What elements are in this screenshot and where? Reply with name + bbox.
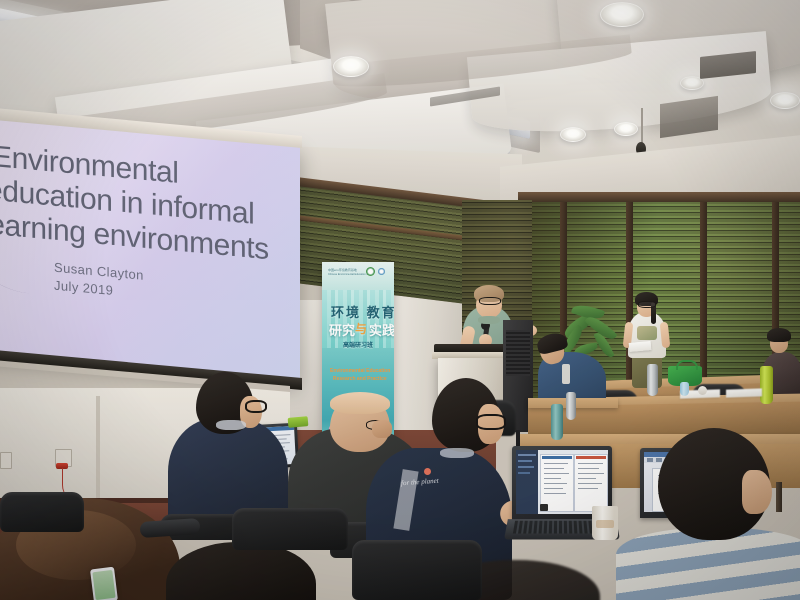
projection-screen: Environmental education in informal lear… bbox=[0, 113, 300, 384]
recessed-downlight-4 bbox=[614, 122, 638, 136]
wall-seam bbox=[96, 396, 100, 506]
banner-tagline: 高端研习班 bbox=[343, 340, 373, 349]
banner-org-cn: 中国env环境教育基地 bbox=[328, 268, 357, 272]
laptop-center-pane-right bbox=[574, 454, 608, 512]
small-white-cup bbox=[698, 386, 707, 395]
banner-headline-cn: 环境 教育 bbox=[331, 302, 394, 321]
banner-subhead-left: 研究 bbox=[329, 320, 355, 339]
standing-woman-shirt-graphic bbox=[637, 326, 657, 340]
laptop-center-screen bbox=[516, 450, 608, 514]
recessed-downlight-3 bbox=[560, 127, 586, 142]
banner-logo-2 bbox=[378, 268, 385, 275]
yellow-green-bottle bbox=[760, 366, 773, 404]
silver-thermos-1 bbox=[647, 364, 658, 396]
recessed-downlight-1 bbox=[333, 56, 369, 77]
pendant-cable bbox=[641, 108, 643, 146]
attendee-far-right-hair bbox=[767, 328, 791, 342]
banner-subhead-right: 实践 bbox=[369, 320, 394, 339]
audience-striped-neck bbox=[742, 470, 772, 514]
table-leg-2 bbox=[776, 482, 782, 512]
banner-headline-en-2: Research and Practice bbox=[333, 376, 387, 382]
pa-speaker-grille bbox=[506, 330, 530, 376]
blind-headrail-right bbox=[518, 192, 800, 202]
smartphone[interactable] bbox=[90, 567, 118, 600]
paper-on-table-2 bbox=[726, 388, 762, 397]
audience-bald-ear bbox=[372, 420, 392, 438]
banner-logo-1 bbox=[366, 267, 375, 276]
green-object-on-laptop bbox=[288, 416, 309, 428]
speaker-glasses bbox=[479, 297, 501, 305]
tshirt-print-dot bbox=[424, 468, 431, 475]
audience-planet-glasses bbox=[476, 414, 506, 430]
wall-outlet-secondary bbox=[0, 452, 12, 469]
silver-thermos-2 bbox=[566, 392, 576, 420]
audience-bald-scalp-highlight bbox=[330, 392, 390, 414]
paper-cup-print bbox=[596, 520, 614, 528]
conference-photo-scene: Environmental education in informal lear… bbox=[0, 0, 800, 600]
teal-water-bottle bbox=[551, 404, 563, 440]
banner-headline-en-1: Environmental Education bbox=[330, 368, 390, 374]
slide-date: July 2019 bbox=[54, 276, 113, 301]
chair-foreground-right[interactable] bbox=[352, 540, 482, 600]
slide-accent-curve bbox=[0, 167, 29, 293]
smartphone-screen bbox=[92, 570, 115, 600]
chair-foreground-mid[interactable] bbox=[232, 508, 348, 550]
speaker-collar bbox=[478, 316, 500, 324]
banner-subhead-mid: 与 bbox=[355, 320, 367, 337]
laptop-center-taskbar-icon bbox=[540, 504, 548, 511]
audience-planet-collar bbox=[440, 448, 474, 458]
small-blue-bottle bbox=[680, 382, 689, 396]
audience-navy-collar bbox=[216, 420, 246, 430]
audience-navy-glasses bbox=[245, 400, 267, 413]
green-bag-handle bbox=[676, 360, 698, 370]
standing-woman-glasses bbox=[638, 301, 656, 308]
recessed-downlight-6 bbox=[770, 92, 800, 109]
audience-front-center-head bbox=[166, 542, 316, 600]
standing-woman-booklet[interactable] bbox=[629, 341, 652, 352]
seated-man-blue-lanyard bbox=[562, 364, 570, 384]
recessed-downlight-2 bbox=[600, 2, 644, 27]
chair-foreground-left[interactable] bbox=[0, 492, 84, 532]
